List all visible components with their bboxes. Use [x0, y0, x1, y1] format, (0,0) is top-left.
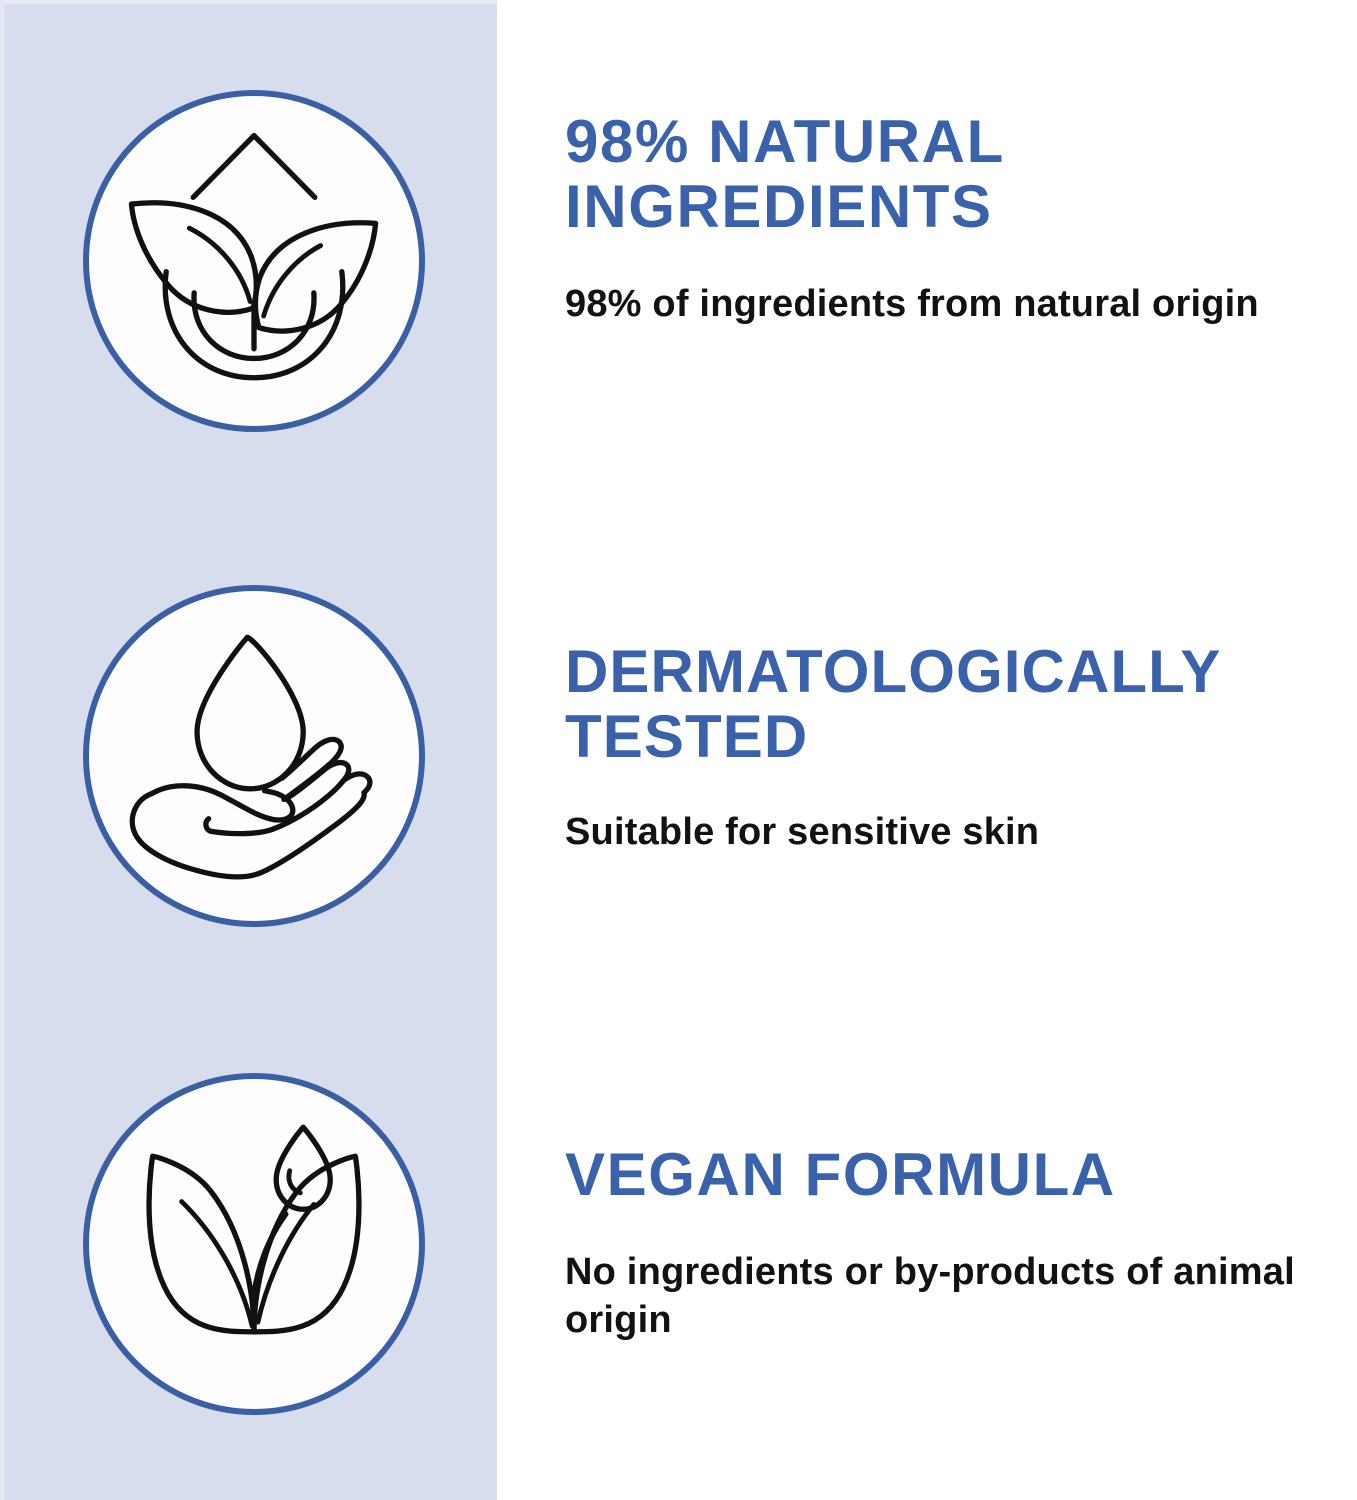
- badge-circle-dermatologically-tested: [83, 585, 425, 927]
- feature-heading-dermatologically-tested: DERMATOLOGICALLY TESTED: [565, 640, 1357, 770]
- leaves-droplet-icon: [89, 1079, 419, 1409]
- feature-subtext-natural-ingredients: 98% of ingredients from natural origin: [565, 280, 1357, 329]
- feature-heading-vegan-formula: VEGAN FORMULA: [565, 1143, 1357, 1208]
- heading-subtext-spacer: [565, 770, 1357, 808]
- heading-subtext-spacer: [565, 1208, 1357, 1248]
- badge-circle-natural-ingredients: [83, 90, 425, 432]
- feature-subtext-dermatologically-tested: Suitable for sensitive skin: [565, 808, 1357, 857]
- heading-subtext-spacer: [565, 240, 1357, 280]
- panel-left-edge: [0, 0, 5, 1500]
- panel-top-edge: [0, 0, 497, 4]
- plant-sprout-icon: [89, 96, 419, 426]
- feature-subtext-vegan-formula: No ingredients or by-products of animal …: [565, 1248, 1357, 1345]
- text-block-natural-ingredients: 98% NATURAL INGREDIENTS 98% of ingredien…: [565, 110, 1357, 328]
- droplet-in-hand-icon: [89, 591, 419, 921]
- badge-circle-vegan-formula: [83, 1073, 425, 1415]
- feature-heading-natural-ingredients: 98% NATURAL INGREDIENTS: [565, 110, 1357, 240]
- text-block-vegan-formula: VEGAN FORMULA No ingredients or by-produ…: [565, 1143, 1357, 1345]
- product-benefits-panel: 98% NATURAL INGREDIENTS 98% of ingredien…: [0, 0, 1357, 1500]
- text-block-dermatologically-tested: DERMATOLOGICALLY TESTED Suitable for sen…: [565, 640, 1357, 856]
